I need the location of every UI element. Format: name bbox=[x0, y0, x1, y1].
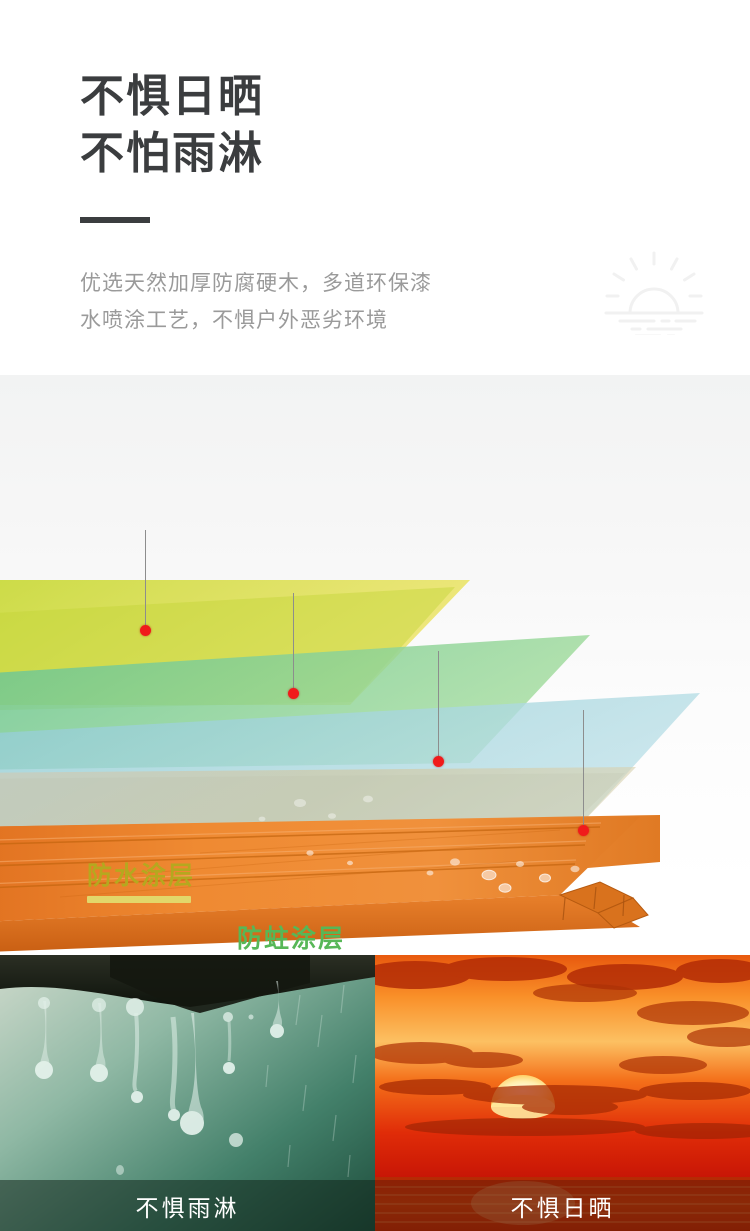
marker-waterproof bbox=[140, 625, 151, 636]
photo-rain: 不惧雨淋 bbox=[0, 955, 375, 1231]
marker-board bbox=[578, 825, 589, 836]
page-subtitle: 优选天然加厚防腐硬木，多道环保漆 水喷涂工艺，不惧户外恶劣环境 bbox=[80, 265, 432, 339]
label-waterproof-underline bbox=[87, 896, 191, 903]
sunrise-icon bbox=[598, 243, 710, 335]
photo-sunset: 不惧日晒 bbox=[375, 955, 750, 1231]
label-anti-termite-coating: 防蛀涂层 bbox=[237, 924, 345, 955]
page-title: 不惧日晒 不怕雨淋 bbox=[80, 68, 264, 182]
leader-line-rot bbox=[438, 651, 439, 761]
photo-rain-caption: 不惧雨淋 bbox=[0, 1180, 375, 1231]
coating-layer-diagram: 防水涂层 防蛀涂层 防腐涂层 防腐木坐板 bbox=[0, 375, 750, 955]
photo-row: 不惧雨淋 bbox=[0, 955, 750, 1231]
leader-line-termite bbox=[293, 593, 294, 693]
label-anti-termite-text: 防蛀涂层 bbox=[237, 924, 345, 954]
leader-line-board bbox=[583, 710, 584, 830]
header-section: 不惧日晒 不怕雨淋 优选天然加厚防腐硬木，多道环保漆 水喷涂工艺，不惧户外恶劣环… bbox=[0, 0, 750, 375]
photo-sunset-caption: 不惧日晒 bbox=[375, 1180, 750, 1231]
marker-rot bbox=[433, 756, 444, 767]
label-waterproof-text: 防水涂层 bbox=[87, 861, 195, 891]
title-divider bbox=[80, 217, 150, 223]
leader-line-waterproof bbox=[145, 530, 146, 630]
label-waterproof-coating: 防水涂层 bbox=[87, 861, 195, 903]
product-detail-page: 不惧日晒 不怕雨淋 优选天然加厚防腐硬木，多道环保漆 水喷涂工艺，不惧户外恶劣环… bbox=[0, 0, 750, 1231]
marker-termite bbox=[288, 688, 299, 699]
